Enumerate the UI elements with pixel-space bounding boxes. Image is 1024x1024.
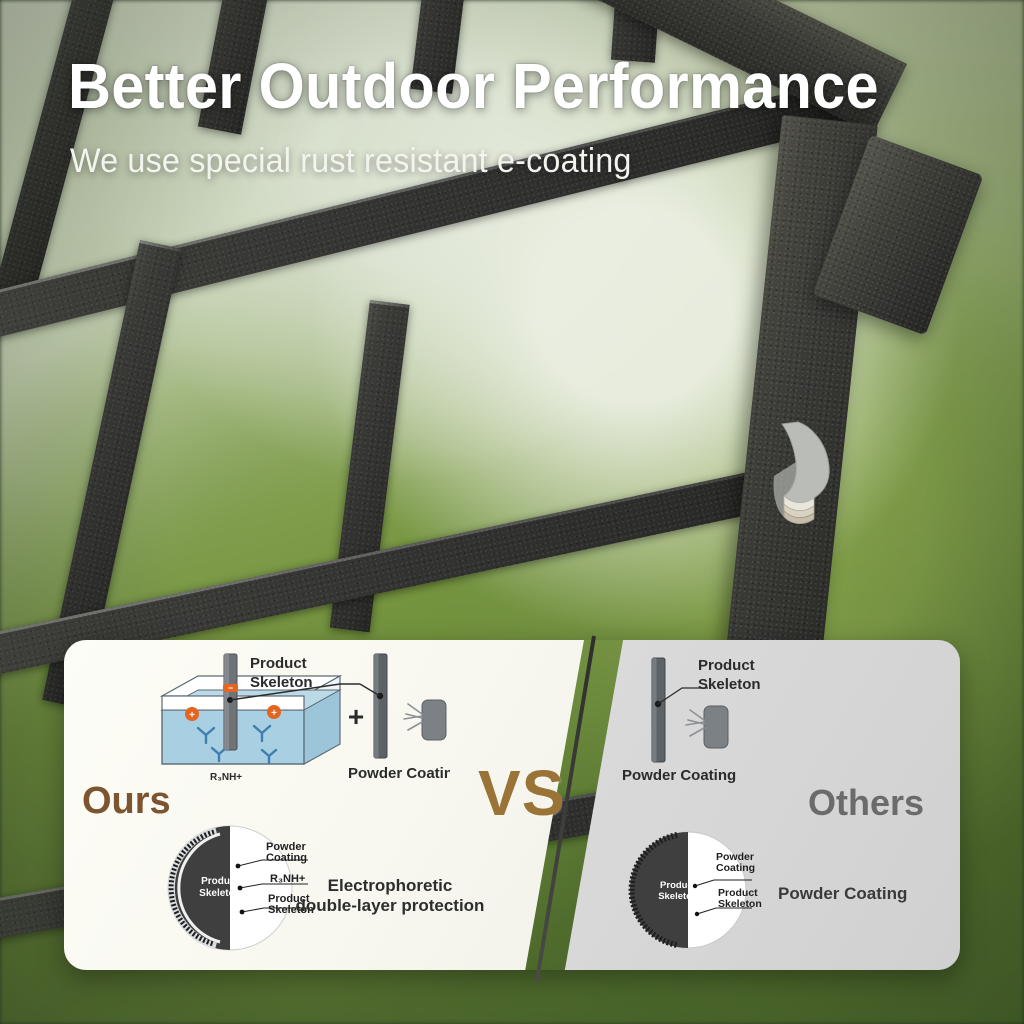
ours-core-label-1: Product [201,876,239,887]
ours-caption-line1: Electrophoretic [290,876,490,896]
others-skeleton-label-line2: Skeleton [698,676,761,693]
ours-core-label-2: Skeleton [199,888,241,899]
powder-coating-process-diagram: ProductSkeleton Powder Coating [612,648,842,788]
page-title: Better Outdoor Performance [68,54,905,119]
ours-skeleton-label: Product [250,655,307,672]
svg-text:+: + [348,701,364,732]
ours-title: Ours [82,780,171,823]
promo-image: Better Outdoor Performance We use specia… [0,0,1024,1024]
ours-powder-label: Powder Coating [348,765,450,782]
others-layer1-label-2: Coating [716,862,755,874]
electrophoresis-process-diagram: + + − + ProductSkeleton R₃NH+ Powder Coa… [150,648,450,788]
ours-caption-line2: double-layer protection [290,896,490,916]
vs-label: VS [478,756,565,830]
others-core-label-1: Product [660,880,697,891]
others-core-label-2: Skeleton [658,891,698,902]
others-skeleton-label: Product [698,657,755,674]
ours-skeleton-label-line2: Skeleton [250,674,313,691]
others-layer2-label-2: Skeleton [718,898,762,910]
ours-caption: Electrophoretic double-layer protection [290,876,490,916]
others-powder-label: Powder Coating [622,767,736,784]
ours-layer1-label-2: Coating [266,852,307,864]
others-title: Others [808,782,924,824]
page-subtitle: We use special rust resistant e-coating [70,142,925,181]
svg-text:+: + [189,710,195,721]
svg-text:+: + [271,708,277,719]
ours-solution-label: R₃NH+ [210,772,242,783]
svg-text:−: − [228,683,233,693]
others-caption: Powder Coating [778,884,907,904]
